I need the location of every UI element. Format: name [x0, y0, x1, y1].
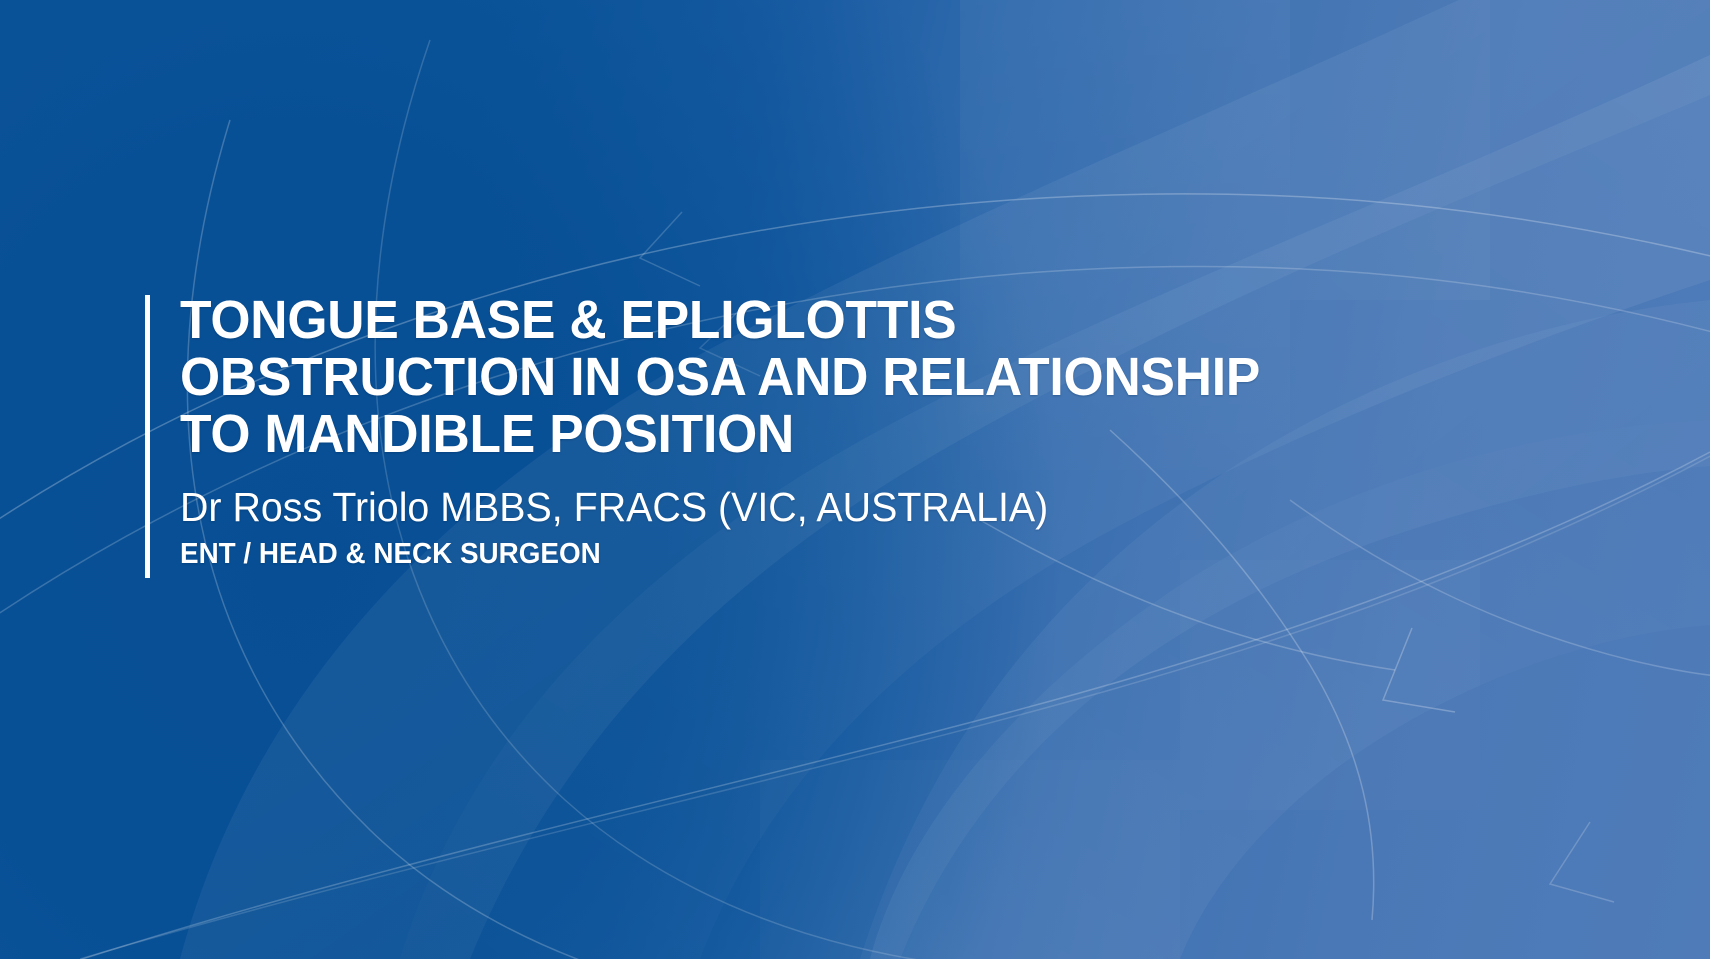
- presenter-credentials: ENT / HEAD & NECK SURGEON: [180, 537, 1514, 571]
- page-title-line-3: TO MANDIBLE POSITION: [180, 406, 1507, 463]
- title-slide: TONGUE BASE & EPLIGLOTTIS OBSTRUCTION IN…: [0, 0, 1710, 959]
- page-title-line-1: TONGUE BASE & EPLIGLOTTIS: [180, 292, 1507, 349]
- headings-group: TONGUE BASE & EPLIGLOTTIS OBSTRUCTION IN…: [180, 292, 1570, 571]
- page-title-line-2: OBSTRUCTION IN OSA AND RELATIONSHIP: [180, 349, 1507, 406]
- accent-vertical-rule: [145, 295, 150, 578]
- presenter-name: Dr Ross Triolo MBBS, FRACS (VIC, AUSTRAL…: [180, 483, 1514, 531]
